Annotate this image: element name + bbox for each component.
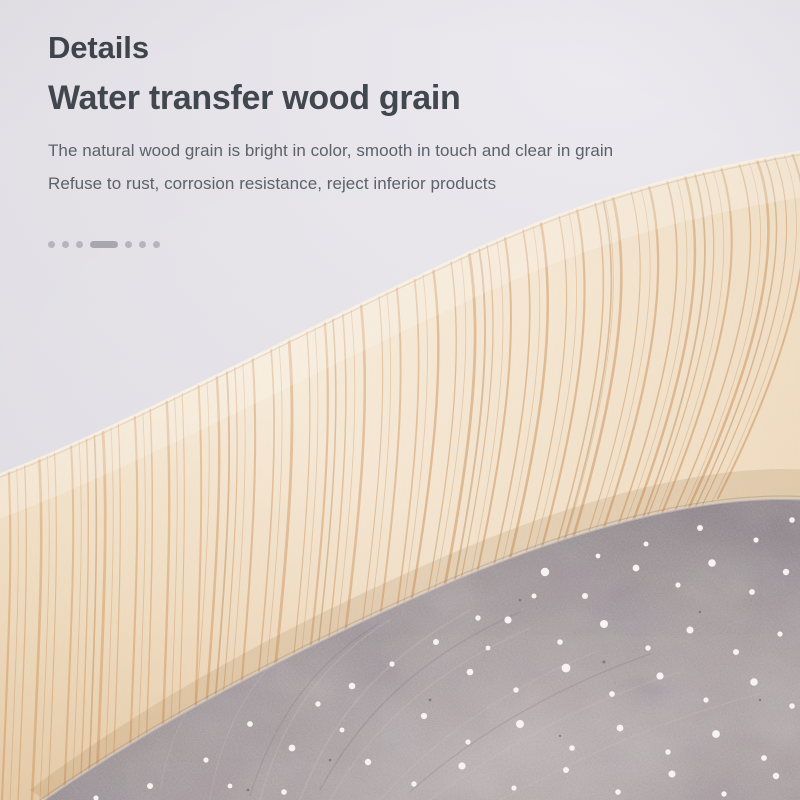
- description-line-1: The natural wood grain is bright in colo…: [48, 134, 748, 167]
- carousel-indicator[interactable]: [48, 241, 160, 248]
- page-title: Water transfer wood grain: [48, 78, 748, 118]
- carousel-dot-7[interactable]: [153, 241, 160, 248]
- product-detail-banner: Details Water transfer wood grain The na…: [0, 0, 800, 800]
- description-line-2: Refuse to rust, corrosion resistance, re…: [48, 167, 748, 200]
- carousel-dot-2[interactable]: [62, 241, 69, 248]
- carousel-dot-3[interactable]: [76, 241, 83, 248]
- section-kicker: Details: [48, 30, 748, 66]
- carousel-dot-5[interactable]: [125, 241, 132, 248]
- detail-text-block: Details Water transfer wood grain The na…: [48, 30, 748, 200]
- carousel-dot-6[interactable]: [139, 241, 146, 248]
- carousel-dot-4-active[interactable]: [90, 241, 118, 248]
- carousel-dot-1[interactable]: [48, 241, 55, 248]
